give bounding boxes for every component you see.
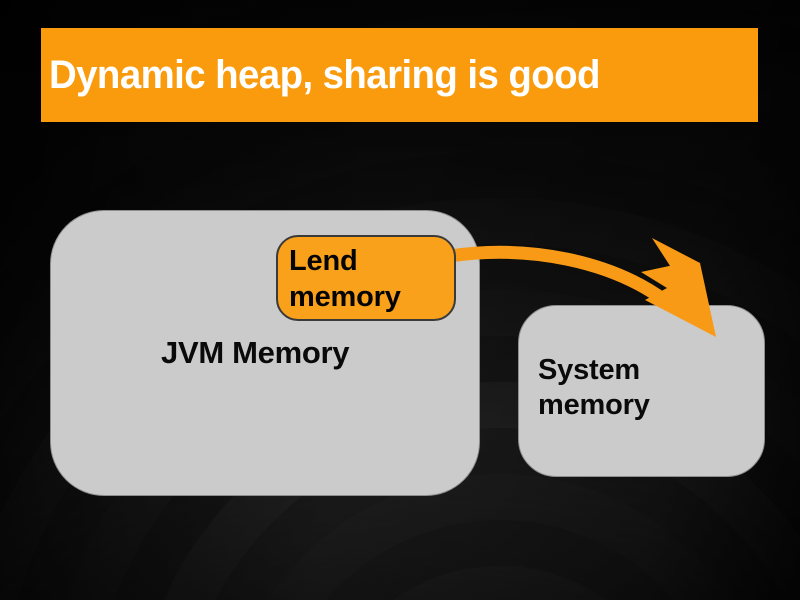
system-memory-label: System memory	[538, 353, 650, 424]
slide-canvas: Dynamic heap, sharing is good JVM Memory…	[0, 0, 800, 600]
slide-title: Dynamic heap, sharing is good	[49, 53, 600, 98]
lend-memory-label: Lend memory	[289, 243, 439, 316]
title-banner: Dynamic heap, sharing is good	[41, 28, 758, 122]
jvm-memory-label: JVM Memory	[161, 334, 349, 372]
